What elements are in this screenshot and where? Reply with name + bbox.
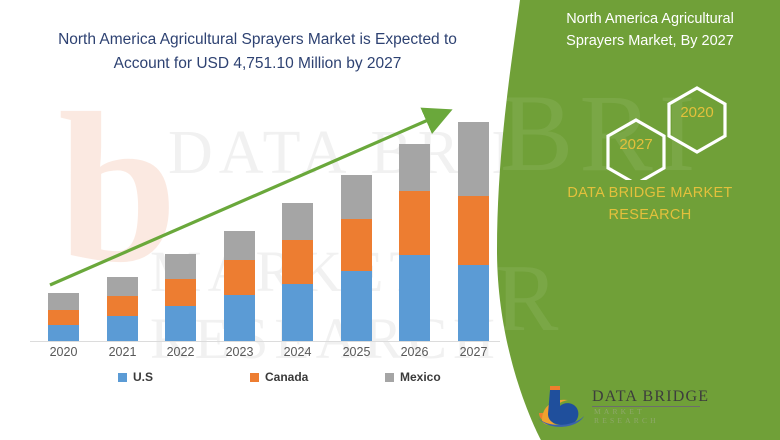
- hexagon-2020-label: 2020: [667, 104, 727, 121]
- x-axis-line: [30, 341, 500, 342]
- bar-segment-canada-2026: [399, 191, 430, 255]
- legend-label: Mexico: [400, 370, 441, 384]
- chart-legend: U.SCanadaMexico: [30, 370, 500, 390]
- legend-item-us[interactable]: U.S: [118, 370, 153, 384]
- legend-label: U.S: [133, 370, 153, 384]
- legend-swatch-icon: [385, 373, 394, 382]
- bar-segment-us-2027: [458, 265, 489, 341]
- page-title: North America Agricultural Sprayers Mark…: [30, 28, 485, 76]
- x-axis-label-2020: 2020: [34, 345, 94, 359]
- bar-segment-mexico-2021: [107, 277, 138, 296]
- bar-segment-canada-2021: [107, 296, 138, 316]
- bar-segment-canada-2024: [282, 240, 313, 284]
- panel-brand-text: DATA BRIDGE MARKET RESEARCH: [530, 182, 770, 226]
- bar-2021: [107, 277, 138, 341]
- bar-2025: [341, 175, 372, 341]
- bar-segment-us-2023: [224, 295, 255, 341]
- panel-title: North America Agricultural Sprayers Mark…: [532, 8, 768, 52]
- bar-segment-mexico-2027: [458, 122, 489, 196]
- x-axis-label-2021: 2021: [93, 345, 153, 359]
- x-axis-label-2024: 2024: [268, 345, 328, 359]
- bar-2022: [165, 254, 196, 341]
- company-logo: DATA BRIDGE MARKET RESEARCH: [534, 382, 714, 430]
- page-title-line-2: Account for USD 4,751.10 Million by 2027: [114, 55, 402, 72]
- hexagon-shapes: [520, 80, 780, 180]
- legend-item-mexico[interactable]: Mexico: [385, 370, 441, 384]
- bar-segment-canada-2022: [165, 279, 196, 306]
- bar-segment-us-2025: [341, 271, 372, 341]
- bar-segment-mexico-2026: [399, 144, 430, 191]
- bar-segment-mexico-2025: [341, 175, 372, 219]
- logo-tagline: MARKET RESEARCH: [594, 407, 714, 425]
- legend-item-canada[interactable]: Canada: [250, 370, 308, 384]
- hexagon-2027-label: 2027: [606, 136, 666, 153]
- panel-brand-line-2: RESEARCH: [609, 207, 692, 223]
- legend-swatch-icon: [118, 373, 127, 382]
- bar-2027: [458, 122, 489, 341]
- bar-segment-mexico-2022: [165, 254, 196, 279]
- bar-2020: [48, 293, 79, 341]
- bar-segment-canada-2020: [48, 310, 79, 325]
- bar-segment-canada-2027: [458, 196, 489, 265]
- bar-segment-us-2020: [48, 325, 79, 341]
- x-axis-label-2027: 2027: [444, 345, 504, 359]
- hexagon-badges: 2020 2027: [520, 80, 780, 180]
- infographic-canvas: b DATA BRIDGE MARKET RESEARCH North Amer…: [0, 0, 780, 440]
- bar-2026: [399, 144, 430, 341]
- panel-title-line-2: Sprayers Market, By 2027: [566, 33, 734, 49]
- bar-segment-canada-2023: [224, 260, 255, 295]
- x-axis-label-2022: 2022: [151, 345, 211, 359]
- bar-segment-mexico-2024: [282, 203, 313, 240]
- bar-segment-us-2022: [165, 306, 196, 341]
- bar-segment-us-2024: [282, 284, 313, 341]
- logo-name: DATA BRIDGE: [592, 388, 709, 406]
- panel-title-line-1: North America Agricultural: [566, 11, 734, 27]
- bar-segment-us-2026: [399, 255, 430, 341]
- logo-mark-icon: [534, 382, 590, 428]
- panel-content: North America Agricultural Sprayers Mark…: [520, 0, 780, 440]
- legend-swatch-icon: [250, 373, 259, 382]
- x-axis-labels: 20202021202220232024202520262027: [30, 345, 500, 365]
- x-axis-label-2025: 2025: [327, 345, 387, 359]
- bar-segment-mexico-2023: [224, 231, 255, 260]
- legend-label: Canada: [265, 370, 308, 384]
- bar-segment-us-2021: [107, 316, 138, 341]
- bar-segment-canada-2025: [341, 219, 372, 271]
- stacked-bar-chart: [30, 100, 500, 342]
- x-axis-label-2026: 2026: [385, 345, 445, 359]
- bar-segment-mexico-2020: [48, 293, 79, 310]
- x-axis-label-2023: 2023: [210, 345, 270, 359]
- page-title-line-1: North America Agricultural Sprayers Mark…: [58, 31, 457, 48]
- bar-2023: [224, 231, 255, 341]
- bar-2024: [282, 203, 313, 341]
- panel-brand-line-1: DATA BRIDGE MARKET: [567, 185, 732, 201]
